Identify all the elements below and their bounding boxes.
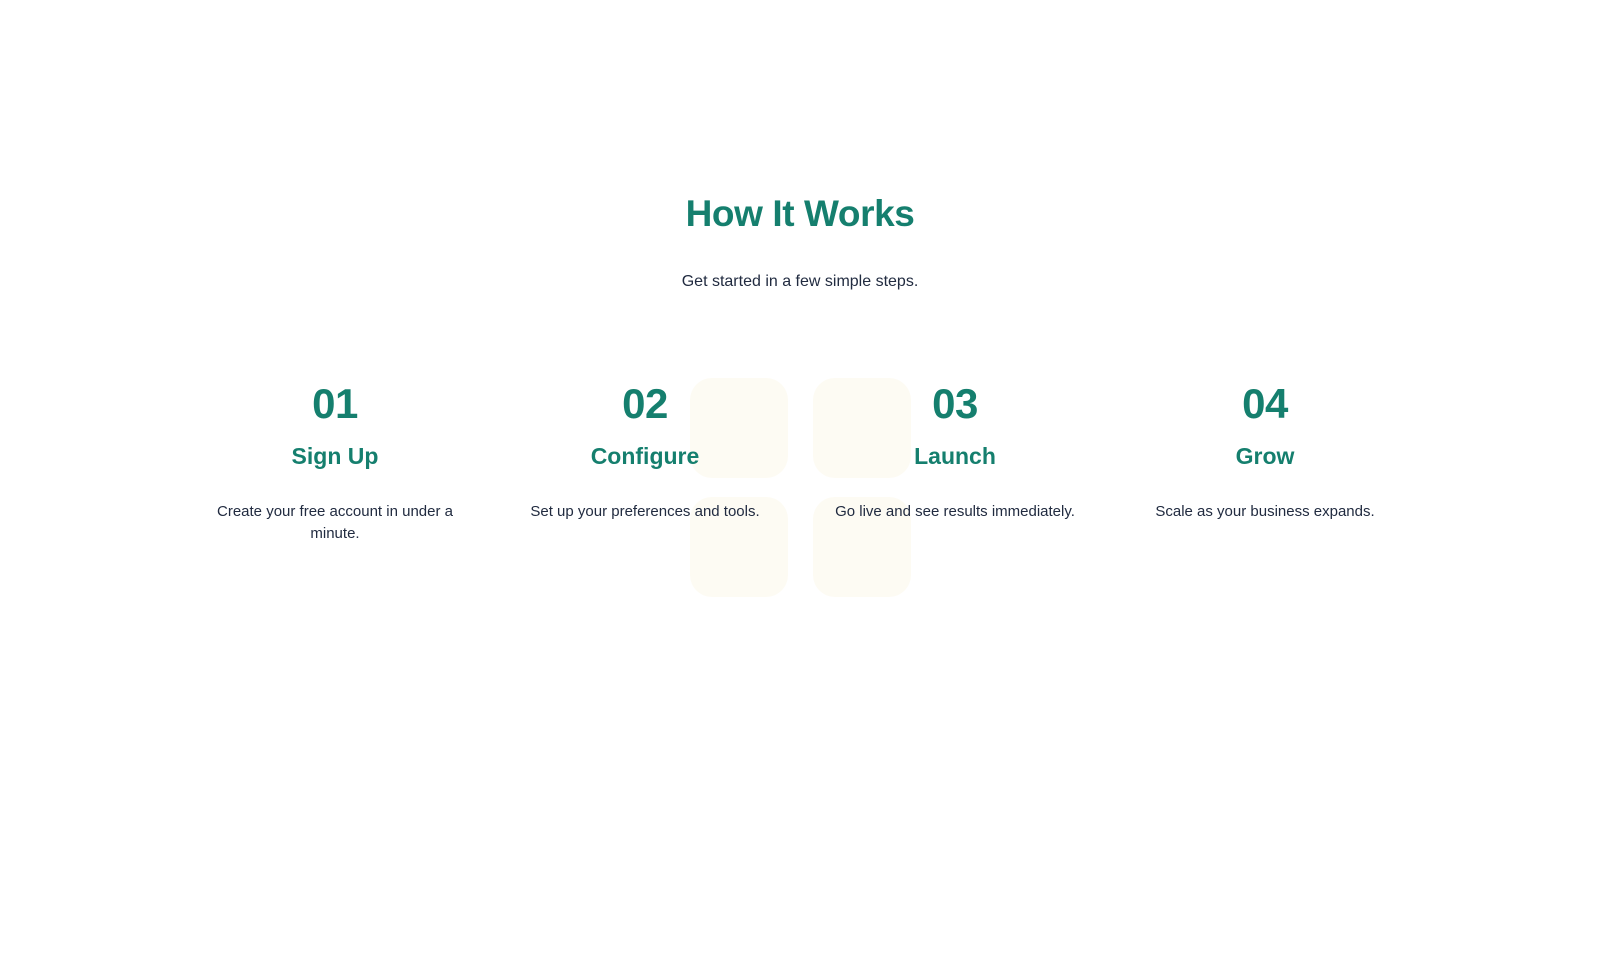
step-number: 04	[1128, 382, 1402, 426]
step-description: Scale as your business expands.	[1128, 470, 1402, 522]
step-item-3: 03 Launch Go live and see results immedi…	[800, 382, 1110, 523]
step-description: Go live and see results immediately.	[818, 470, 1092, 522]
step-item-1: 01 Sign Up Create your free account in u…	[180, 382, 490, 544]
step-description: Create your free account in under a minu…	[198, 470, 472, 544]
step-title: Launch	[818, 426, 1092, 471]
step-title: Grow	[1128, 426, 1402, 471]
how-it-works-section: How It Works Get started in a few simple…	[0, 0, 1600, 544]
step-title: Sign Up	[198, 426, 472, 471]
step-item-2: 02 Configure Set up your preferences and…	[490, 382, 800, 523]
steps-row: 01 Sign Up Create your free account in u…	[180, 294, 1420, 544]
step-number: 02	[508, 382, 782, 426]
step-description: Set up your preferences and tools.	[508, 470, 782, 522]
section-subtitle: Get started in a few simple steps.	[0, 236, 1600, 294]
step-number: 03	[818, 382, 1092, 426]
step-item-4: 04 Grow Scale as your business expands.	[1110, 382, 1420, 523]
step-number: 01	[198, 382, 472, 426]
step-title: Configure	[508, 426, 782, 471]
section-heading: How It Works	[0, 192, 1600, 236]
